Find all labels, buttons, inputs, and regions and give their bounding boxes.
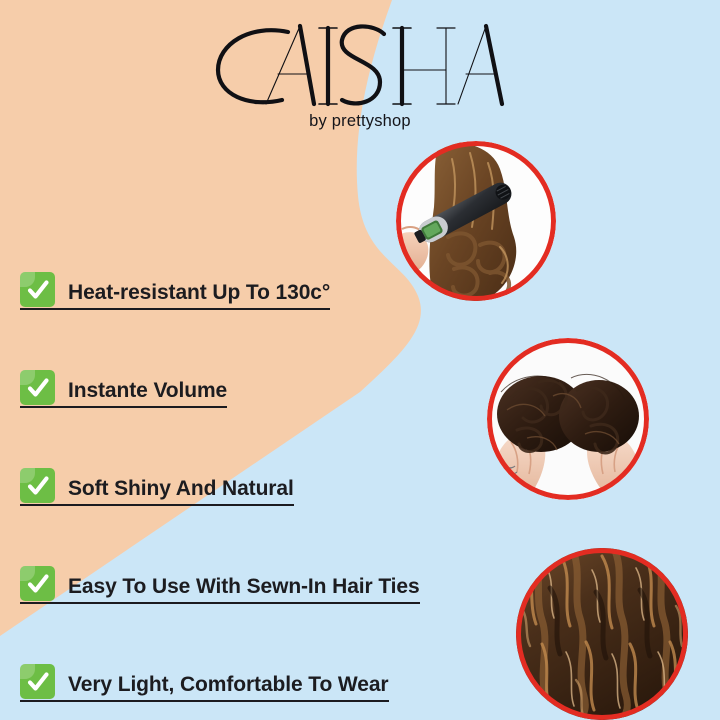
feature-item: Easy To Use With Sewn-In Hair Ties bbox=[20, 506, 490, 604]
check-badge-icon bbox=[20, 566, 55, 601]
product-feature-graphic: by prettyshop Heat-resistant Up To 130c° bbox=[0, 0, 720, 720]
feature-item: Instante Volume bbox=[20, 310, 490, 408]
check-badge-icon bbox=[20, 664, 55, 699]
check-badge-icon bbox=[20, 272, 55, 307]
feature-label: Heat-resistant Up To 130c° bbox=[68, 281, 330, 307]
photo-hands-holding-hair-pieces bbox=[487, 338, 649, 500]
feature-list: Heat-resistant Up To 130c° Instante Volu… bbox=[20, 212, 490, 702]
photo-curly-hair-closeup bbox=[516, 548, 688, 720]
brand-logo: by prettyshop bbox=[0, 18, 720, 131]
check-badge-icon bbox=[20, 370, 55, 405]
brand-tagline: by prettyshop bbox=[0, 112, 720, 131]
brand-wordmark-caisha bbox=[210, 18, 510, 110]
feature-item: Very Light, Comfortable To Wear bbox=[20, 604, 490, 702]
check-badge-icon bbox=[20, 468, 55, 503]
feature-item: Heat-resistant Up To 130c° bbox=[20, 212, 490, 310]
feature-item: Soft Shiny And Natural bbox=[20, 408, 490, 506]
feature-label: Soft Shiny And Natural bbox=[68, 477, 294, 503]
feature-label: Instante Volume bbox=[68, 379, 227, 405]
feature-label: Easy To Use With Sewn-In Hair Ties bbox=[68, 575, 420, 601]
feature-label: Very Light, Comfortable To Wear bbox=[68, 673, 389, 699]
